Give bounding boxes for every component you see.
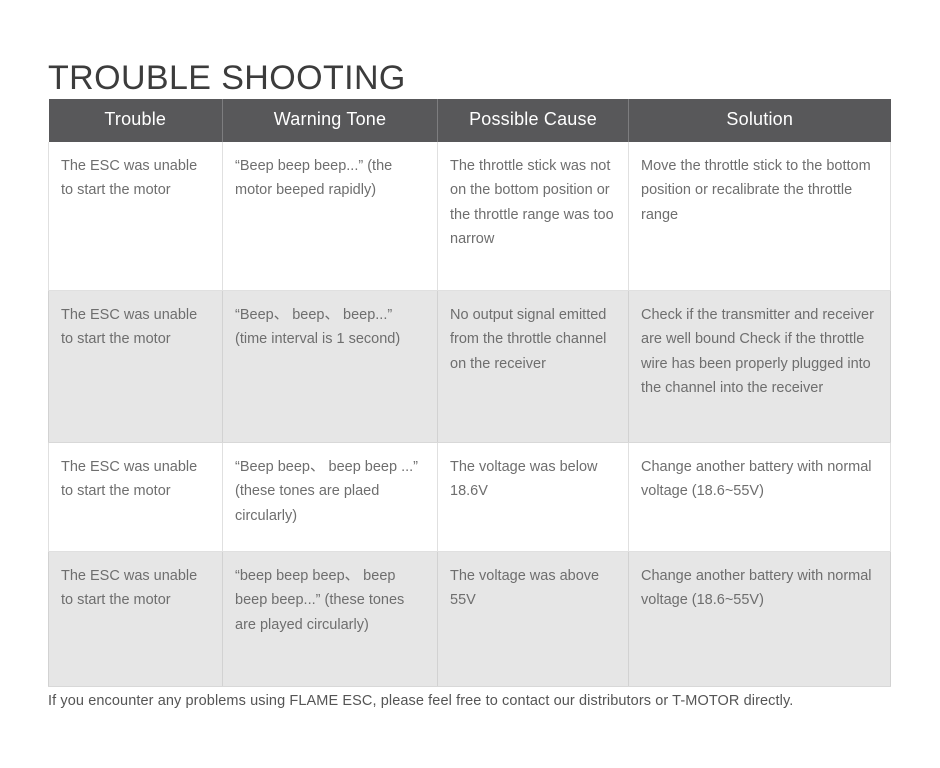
cell-trouble: The ESC was unable to start the motor xyxy=(49,142,223,291)
cell-text: The voltage was below 18.6V xyxy=(450,455,616,504)
cell-possible-cause: The throttle stick was not on the bottom… xyxy=(438,142,629,291)
table-row: The ESC was unable to start the motor “B… xyxy=(49,142,891,291)
cell-warning-tone: “Beep beep、 beep beep ...” (these tones … xyxy=(223,443,438,552)
cell-warning-tone: “Beep、 beep、 beep...” (time interval is … xyxy=(223,291,438,443)
table-row: The ESC was unable to start the motor “B… xyxy=(49,291,891,443)
cell-solution: Move the throttle stick to the bottom po… xyxy=(629,142,891,291)
page-title: TROUBLE SHOOTING xyxy=(48,59,406,98)
table-row: The ESC was unable to start the motor “B… xyxy=(49,443,891,552)
troubleshooting-table: Trouble Warning Tone Possible Cause Solu… xyxy=(48,99,891,687)
column-header-possible-cause: Possible Cause xyxy=(438,99,629,142)
cell-text: Move the throttle stick to the bottom po… xyxy=(641,154,878,227)
cell-trouble: The ESC was unable to start the motor xyxy=(49,552,223,687)
column-header-solution: Solution xyxy=(629,99,891,142)
cell-trouble: The ESC was unable to start the motor xyxy=(49,291,223,443)
cell-possible-cause: The voltage was above 55V xyxy=(438,552,629,687)
table-row: The ESC was unable to start the motor “b… xyxy=(49,552,891,687)
cell-solution: Check if the transmitter and receiver ar… xyxy=(629,291,891,443)
column-header-trouble: Trouble xyxy=(49,99,223,142)
cell-text: Change another battery with normal volta… xyxy=(641,455,878,504)
cell-trouble: The ESC was unable to start the motor xyxy=(49,443,223,552)
cell-warning-tone: “beep beep beep、 beep beep beep...” (the… xyxy=(223,552,438,687)
cell-possible-cause: The voltage was below 18.6V xyxy=(438,443,629,552)
table-header: Trouble Warning Tone Possible Cause Solu… xyxy=(49,99,891,142)
cell-text: Check if the transmitter and receiver ar… xyxy=(641,303,878,400)
footer-note: If you encounter any problems using FLAM… xyxy=(48,693,793,709)
cell-solution: Change another battery with normal volta… xyxy=(629,443,891,552)
cell-text: “Beep beep、 beep beep ...” (these tones … xyxy=(235,455,425,528)
table-body: The ESC was unable to start the motor “B… xyxy=(49,142,891,687)
cell-text: The ESC was unable to start the motor xyxy=(61,303,210,352)
cell-text: The throttle stick was not on the bottom… xyxy=(450,154,616,251)
column-header-warning-tone: Warning Tone xyxy=(223,99,438,142)
cell-warning-tone: “Beep beep beep...” (the motor beeped ra… xyxy=(223,142,438,291)
cell-text: No output signal emitted from the thrott… xyxy=(450,303,616,376)
cell-text: The ESC was unable to start the motor xyxy=(61,564,210,613)
cell-text: The ESC was unable to start the motor xyxy=(61,455,210,504)
table-header-row: Trouble Warning Tone Possible Cause Solu… xyxy=(49,99,891,142)
cell-solution: Change another battery with normal volta… xyxy=(629,552,891,687)
cell-possible-cause: No output signal emitted from the thrott… xyxy=(438,291,629,443)
cell-text: The voltage was above 55V xyxy=(450,564,616,613)
cell-text: “Beep、 beep、 beep...” (time interval is … xyxy=(235,303,425,352)
cell-text: Change another battery with normal volta… xyxy=(641,564,878,613)
cell-text: “Beep beep beep...” (the motor beeped ra… xyxy=(235,154,425,203)
cell-text: “beep beep beep、 beep beep beep...” (the… xyxy=(235,564,425,637)
cell-text: The ESC was unable to start the motor xyxy=(61,154,210,203)
troubleshooting-page: TROUBLE SHOOTING Trouble Warning Tone Po… xyxy=(0,0,940,768)
